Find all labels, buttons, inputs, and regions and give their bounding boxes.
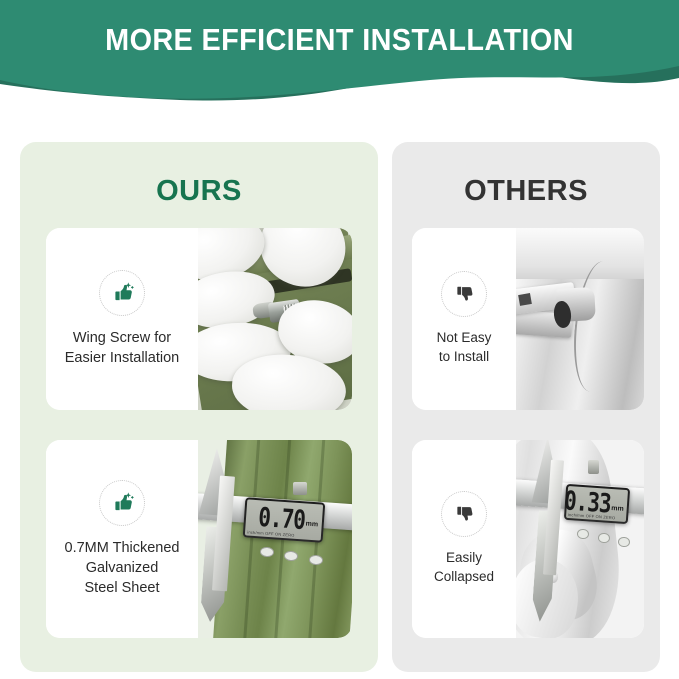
card-caption-text: Easily Collapsed bbox=[434, 549, 494, 586]
header-banner: MORE EFFICIENT INSTALLATION bbox=[0, 0, 679, 105]
card-caption: Easily Collapsed bbox=[412, 440, 516, 638]
thumbs-down-icon bbox=[441, 271, 487, 317]
caliper-display: 0.70 mm inch/mm OFF ON ZERO bbox=[243, 498, 326, 543]
panel-ours: OURS Wing Screw for Easier Installation bbox=[20, 142, 378, 672]
caliper-display: 0.33 mm inch/mm OFF ON ZERO bbox=[563, 483, 629, 523]
card-caption: 0.7MM Thickened Galvanized Steel Sheet bbox=[46, 440, 198, 638]
page-title: MORE EFFICIENT INSTALLATION bbox=[24, 22, 655, 58]
card-others-easily-collapsed: Easily Collapsed 0.33 mm inch/ bbox=[412, 440, 644, 638]
photo-pliers-install bbox=[516, 228, 644, 410]
thumbs-down-icon bbox=[441, 491, 487, 537]
card-others-hard-install: Not Easy to Install bbox=[412, 228, 644, 410]
photo-wing-screw-install bbox=[198, 228, 352, 410]
caption-line: 0.7MM Thickened bbox=[65, 538, 180, 558]
panel-others-heading: OTHERS bbox=[392, 175, 660, 208]
caption-line: Easily bbox=[434, 549, 494, 568]
caliper-unit: mm bbox=[306, 521, 319, 529]
card-ours-wing-screw: Wing Screw for Easier Installation bbox=[46, 228, 352, 410]
card-ours-steel-thickness: 0.7MM Thickened Galvanized Steel Sheet 0… bbox=[46, 440, 352, 638]
thumbs-up-sparkle-icon bbox=[99, 270, 145, 316]
thumbs-up-sparkle-icon bbox=[99, 480, 145, 526]
caption-line: Easier Installation bbox=[65, 348, 179, 368]
photo-caliper-green-panel: 0.70 mm inch/mm OFF ON ZERO bbox=[198, 440, 352, 638]
comparison-container: OURS Wing Screw for Easier Installation bbox=[20, 142, 660, 672]
card-caption: Wing Screw for Easier Installation bbox=[46, 228, 198, 410]
card-caption-text: Not Easy to Install bbox=[437, 329, 492, 366]
caption-line: Collapsed bbox=[434, 568, 494, 587]
caption-line: Wing Screw for bbox=[65, 328, 179, 348]
card-caption-text: Wing Screw for Easier Installation bbox=[65, 328, 179, 368]
card-caption-text: 0.7MM Thickened Galvanized Steel Sheet bbox=[65, 538, 180, 598]
card-caption: Not Easy to Install bbox=[412, 228, 516, 410]
caption-line: Galvanized bbox=[65, 558, 180, 578]
photo-caliper-collapsed-sheet: 0.33 mm inch/mm OFF ON ZERO bbox=[516, 440, 644, 638]
caliper-unit: mm bbox=[611, 504, 624, 512]
panel-ours-heading: OURS bbox=[20, 175, 378, 208]
caption-line: Steel Sheet bbox=[65, 578, 180, 598]
panel-others: OTHERS Not Easy to Install bbox=[392, 142, 660, 672]
caption-line: to Install bbox=[437, 348, 492, 367]
caption-line: Not Easy bbox=[437, 329, 492, 348]
